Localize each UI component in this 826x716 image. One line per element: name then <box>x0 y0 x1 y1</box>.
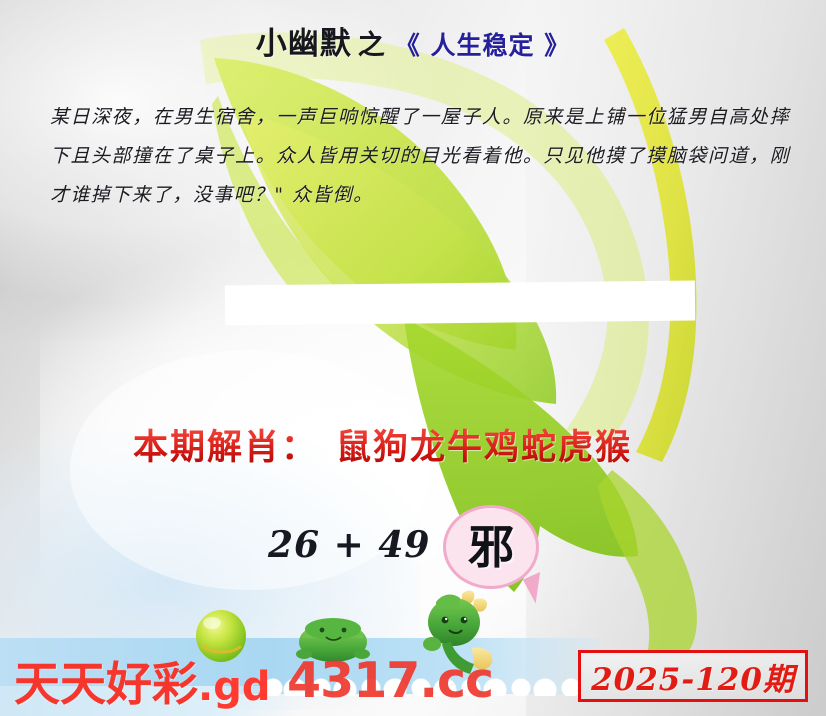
brand-suffix-text: .gd <box>198 664 270 710</box>
answer-speech-bubble: 邪 <box>443 505 539 589</box>
brand-name-text: 天天好彩 <box>14 657 198 711</box>
poster-canvas: 小幽默之《 人生稳定 》 某日深夜，在男生宿舍，一声巨响惊醒了一屋子人。原来是上… <box>0 0 826 716</box>
title-zhi-text: 之 <box>358 30 385 61</box>
issue-number-text: 2025-120期 <box>591 654 795 699</box>
domain-watermark: 4317.cc <box>287 652 493 709</box>
joke-paragraph: 某日深夜，在男生宿舍，一声巨响惊醒了一屋子人。原来是上铺一位猛男自高处摔下且头部… <box>50 98 790 215</box>
answer-character: 邪 <box>468 524 514 570</box>
zodiac-label: 本期解肖： <box>133 427 318 468</box>
issue-number-box: 2025-120期 <box>578 650 808 702</box>
zodiac-animals: 鼠狗龙牛鸡蛇虎猴 <box>336 427 632 468</box>
title-main-text: 小幽默 <box>256 26 352 62</box>
title-subtitle-text: 《 人生稳定 》 <box>395 31 570 60</box>
poster-title: 小幽默之《 人生稳定 》 <box>0 18 826 63</box>
white-overlay-band <box>225 281 695 326</box>
zodiac-forecast-line: 本期解肖：鼠狗龙牛鸡蛇虎猴 <box>133 419 632 470</box>
site-brand-watermark: 天天好彩.gd <box>14 648 270 714</box>
